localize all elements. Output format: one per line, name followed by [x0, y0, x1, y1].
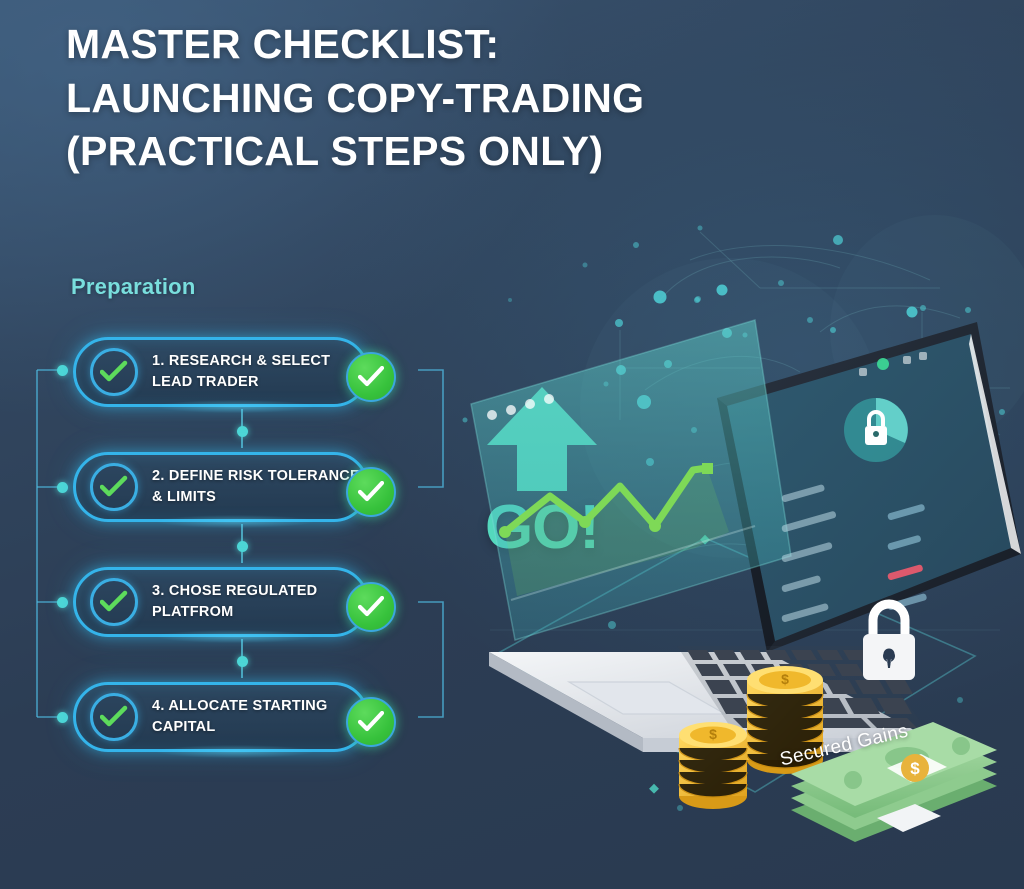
checklist-item-2-label: 2. DEFINE RISK TOLERANCE & LIMITS	[138, 466, 366, 507]
check-icon	[358, 366, 384, 388]
checklist-item-1-label: 1. RESEARCH & SELECT LEAD TRADER	[138, 351, 366, 392]
check-ring-icon	[90, 693, 138, 741]
infographic-canvas: MASTER CHECKLIST: LAUNCHING COPY-TRADING…	[0, 0, 1024, 889]
svg-text:$: $	[781, 671, 789, 687]
check-ring-icon	[90, 578, 138, 626]
svg-text:$: $	[709, 726, 717, 742]
check-ring-icon	[90, 463, 138, 511]
check-icon	[358, 596, 384, 618]
check-ring-icon	[90, 348, 138, 396]
checklist-item-3-label: 3. CHOSE REGULATED PLATFROM	[138, 581, 366, 622]
svg-text:$: $	[910, 759, 920, 778]
checklist-item-3[interactable]: 3. CHOSE REGULATED PLATFROM	[73, 567, 369, 637]
line-chart-card	[471, 320, 791, 640]
laptop-illustration: $ $	[455, 300, 1024, 860]
checklist: 1. RESEARCH & SELECT LEAD TRADER 2. DEFI…	[0, 0, 520, 889]
checklist-item-3-status-badge[interactable]	[346, 582, 396, 632]
checklist-item-1-status-badge[interactable]	[346, 352, 396, 402]
padlock-icon	[863, 604, 915, 680]
security-lock-badge	[844, 398, 908, 462]
checklist-item-2-status-badge[interactable]	[346, 467, 396, 517]
checklist-item-4[interactable]: 4. ALLOCATE STARTING CAPITAL	[73, 682, 369, 752]
checklist-item-1[interactable]: 1. RESEARCH & SELECT LEAD TRADER	[73, 337, 369, 407]
check-icon	[358, 481, 384, 503]
checklist-item-4-label: 4. ALLOCATE STARTING CAPITAL	[138, 696, 366, 737]
checklist-item-4-status-badge[interactable]	[346, 697, 396, 747]
check-icon	[358, 711, 384, 733]
checklist-item-2[interactable]: 2. DEFINE RISK TOLERANCE & LIMITS	[73, 452, 369, 522]
